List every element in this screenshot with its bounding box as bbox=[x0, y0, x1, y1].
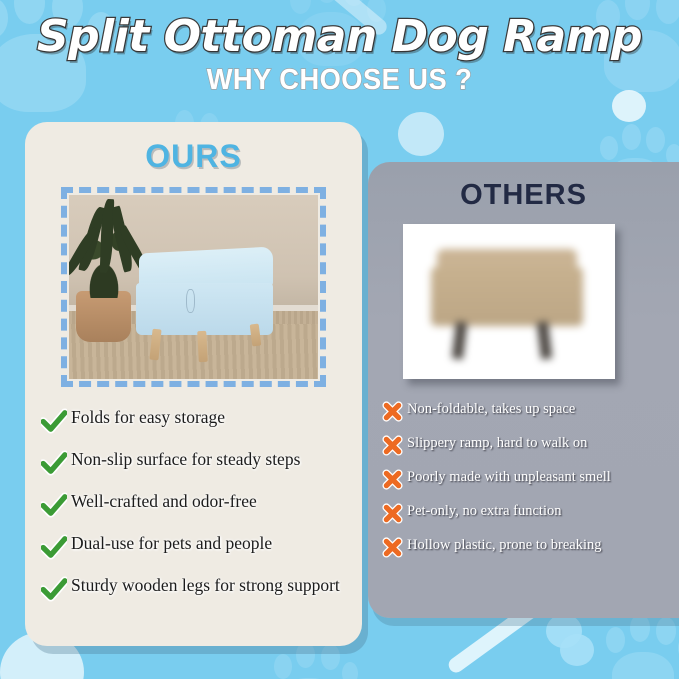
ours-feature-list: Folds for easy storage Non-slip surface … bbox=[25, 407, 362, 617]
infographic-root: Split Ottoman Dog Ramp WHY CHOOSE US ? O… bbox=[0, 0, 679, 679]
list-item-label: Well-crafted and odor-free bbox=[71, 491, 257, 512]
list-item-label: Pet-only, no extra function bbox=[407, 502, 562, 520]
list-item: Dual-use for pets and people bbox=[41, 533, 348, 560]
list-item: Non-slip surface for steady steps bbox=[41, 449, 348, 476]
page-subtitle: WHY CHOOSE US ? bbox=[20, 64, 658, 96]
ours-photo-frame bbox=[61, 187, 326, 387]
header: Split Ottoman Dog Ramp WHY CHOOSE US ? bbox=[0, 0, 679, 115]
check-icon bbox=[41, 492, 67, 518]
cross-icon bbox=[382, 401, 403, 422]
list-item: Poorly made with unpleasant smell bbox=[382, 468, 669, 490]
check-icon bbox=[41, 408, 67, 434]
ours-product-photo bbox=[69, 195, 318, 379]
others-photo-frame bbox=[403, 224, 615, 379]
list-item: Sturdy wooden legs for strong support bbox=[41, 575, 348, 602]
others-panel: OTHERS Non-foldable, takes up space bbox=[368, 162, 679, 618]
cross-icon bbox=[382, 503, 403, 524]
list-item-label: Dual-use for pets and people bbox=[71, 533, 272, 554]
list-item-label: Poorly made with unpleasant smell bbox=[407, 468, 611, 486]
list-item-label: Hollow plastic, prone to breaking bbox=[407, 536, 602, 554]
bone-icon bbox=[546, 614, 582, 648]
paw-print-icon bbox=[604, 612, 679, 679]
cross-icon bbox=[382, 469, 403, 490]
list-item: Well-crafted and odor-free bbox=[41, 491, 348, 518]
list-item-label: Folds for easy storage bbox=[71, 407, 225, 428]
list-item-label: Sturdy wooden legs for strong support bbox=[71, 575, 340, 596]
bone-icon bbox=[560, 634, 594, 666]
check-icon bbox=[41, 576, 67, 602]
ours-heading: OURS bbox=[25, 122, 362, 174]
list-item-label: Slippery ramp, hard to walk on bbox=[407, 434, 587, 452]
check-icon bbox=[41, 534, 67, 560]
page-title: Split Ottoman Dog Ramp bbox=[0, 0, 679, 62]
others-heading: OTHERS bbox=[368, 162, 679, 212]
others-drawback-list: Non-foldable, takes up space Slippery ra… bbox=[368, 400, 679, 570]
others-product-photo bbox=[403, 224, 615, 379]
bone-icon bbox=[398, 112, 444, 156]
list-item-label: Non-slip surface for steady steps bbox=[71, 449, 300, 470]
ours-panel: OURS bbox=[25, 122, 362, 646]
cross-icon bbox=[382, 537, 403, 558]
check-icon bbox=[41, 450, 67, 476]
list-item: Slippery ramp, hard to walk on bbox=[382, 434, 669, 456]
list-item: Non-foldable, takes up space bbox=[382, 400, 669, 422]
list-item: Pet-only, no extra function bbox=[382, 502, 669, 524]
cross-icon bbox=[382, 435, 403, 456]
list-item-label: Non-foldable, takes up space bbox=[407, 400, 575, 418]
list-item: Hollow plastic, prone to breaking bbox=[382, 536, 669, 558]
list-item: Folds for easy storage bbox=[41, 407, 348, 434]
